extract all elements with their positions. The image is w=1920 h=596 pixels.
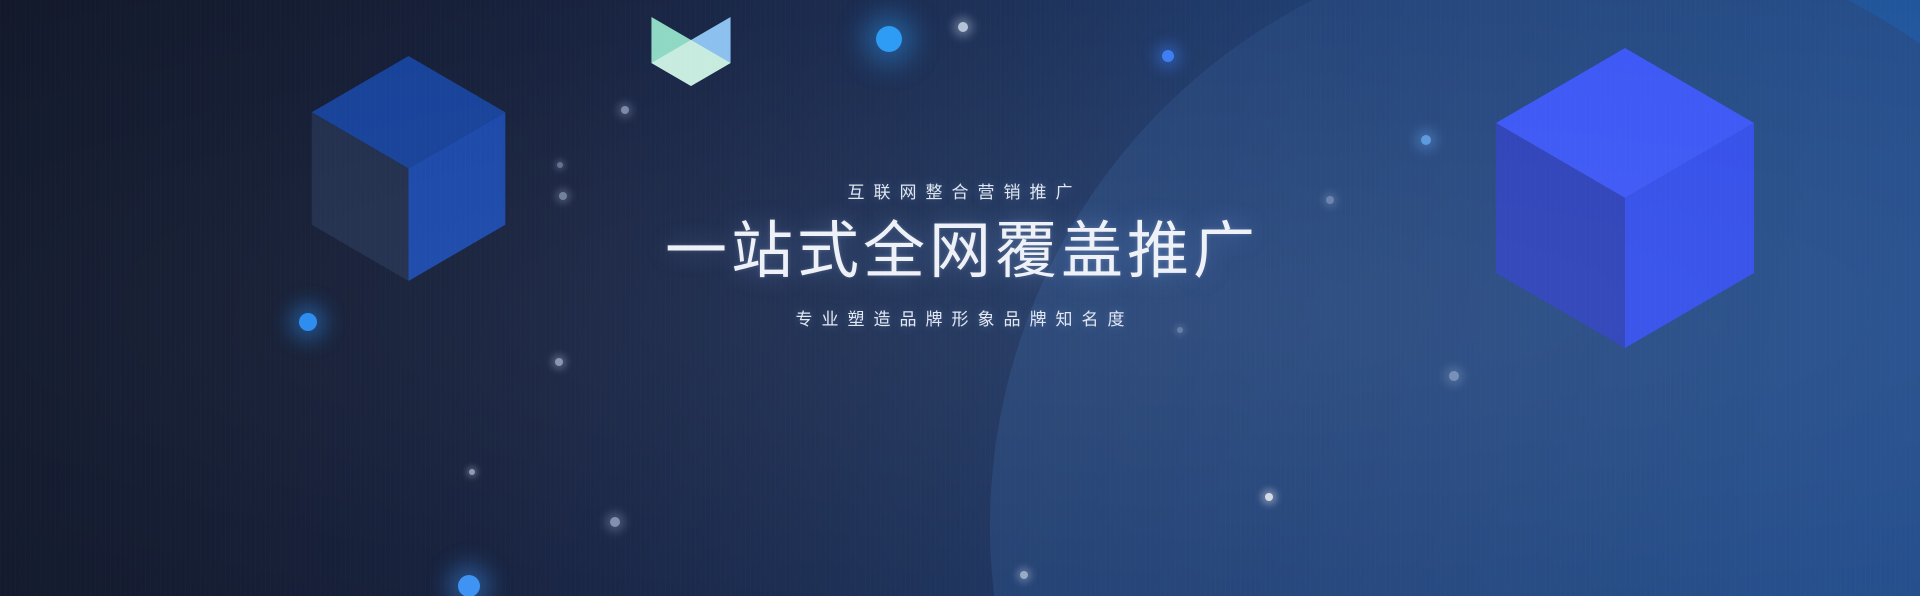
particle-dot — [958, 22, 968, 32]
particle-dot — [458, 575, 480, 596]
particle-dot — [469, 469, 475, 475]
particle-dot — [557, 162, 563, 168]
particle-dot — [621, 106, 629, 114]
hero-banner: 互联网整合营销推广 一站式全网覆盖推广 专业塑造品牌形象品牌知名度 — [0, 0, 1920, 596]
particle-dot — [610, 517, 620, 527]
hero-eyebrow: 互联网整合营销推广 — [0, 178, 1920, 203]
particle-dot — [555, 358, 563, 366]
hero-copy-block: 互联网整合营销推广 一站式全网覆盖推广 专业塑造品牌形象品牌知名度 — [0, 178, 1920, 330]
hero-headline: 一站式全网覆盖推广 — [0, 219, 1920, 285]
hero-subline: 专业塑造品牌形象品牌知名度 — [0, 305, 1920, 330]
particle-dot — [1162, 50, 1174, 62]
hexagon-cube-mint-icon — [645, 0, 737, 86]
particle-dot — [876, 26, 902, 52]
